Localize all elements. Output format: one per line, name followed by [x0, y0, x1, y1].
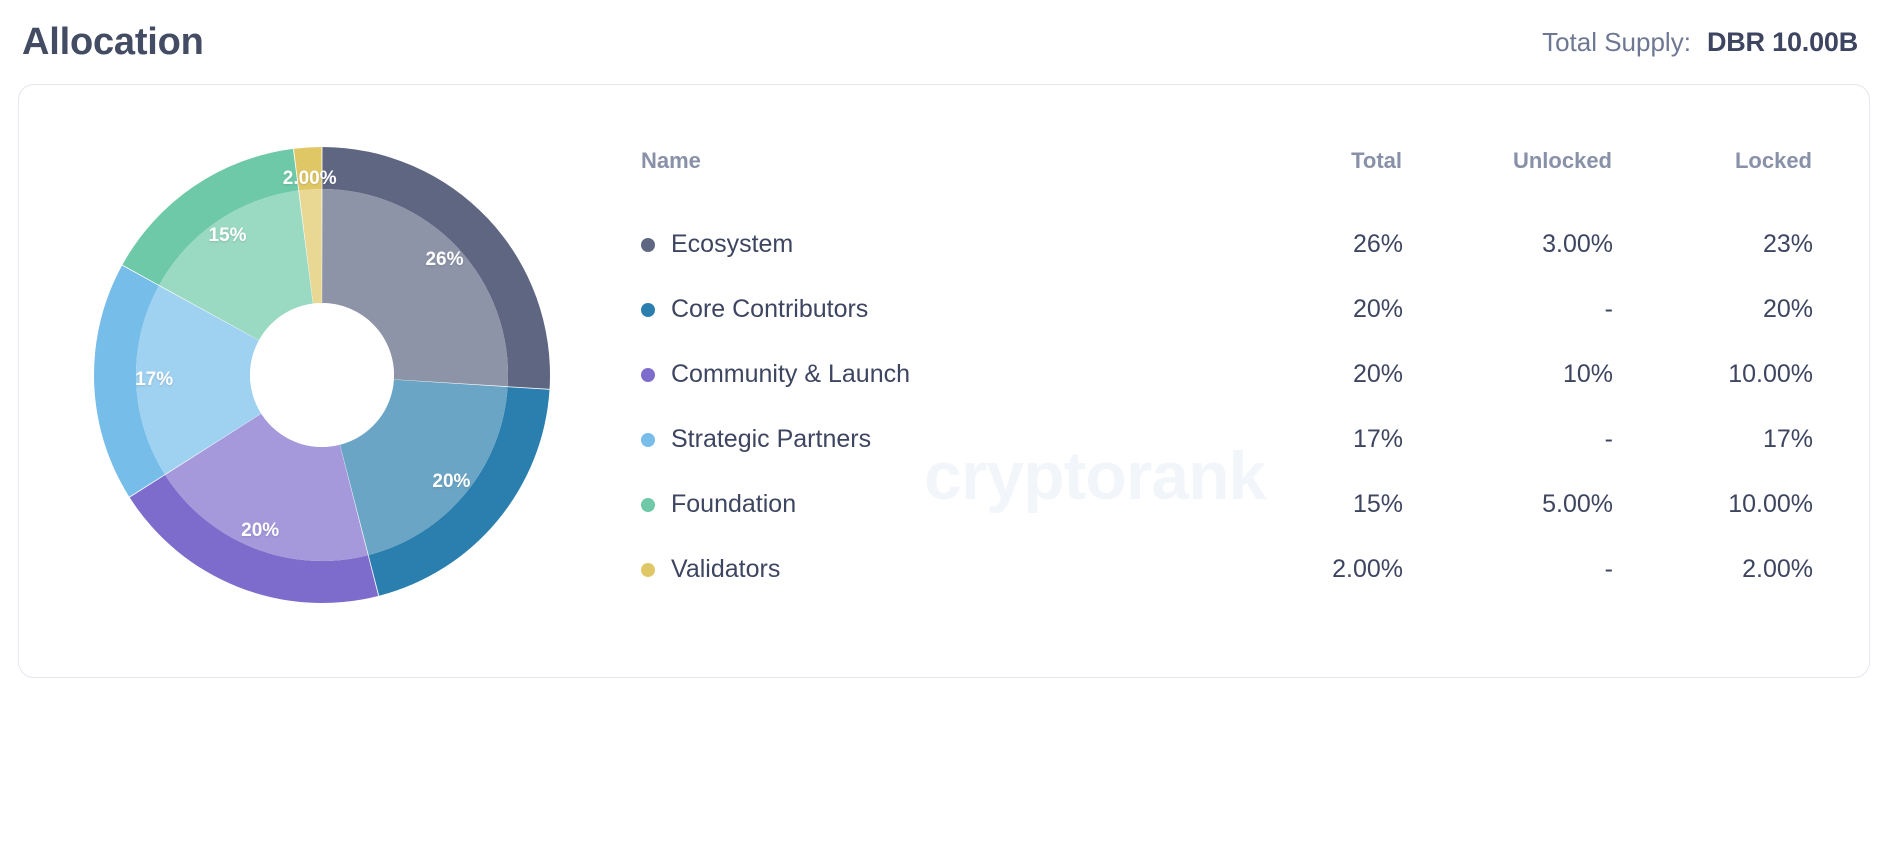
- allocation-unlocked-value: 3.00%: [1403, 212, 1613, 277]
- column-header-name[interactable]: Name: [639, 147, 1253, 212]
- table-row[interactable]: Foundation15%5.00%10.00%: [639, 472, 1813, 537]
- allocation-name-cell: Core Contributors: [639, 277, 1253, 342]
- allocation-name-label: Community & Launch: [671, 360, 910, 389]
- allocation-page: Allocation Total Supply: DBR 10.00B cryp…: [0, 0, 1888, 868]
- allocation-unlocked-value: -: [1403, 537, 1613, 602]
- legend-dot-icon: [641, 238, 655, 252]
- allocation-name-label: Ecosystem: [671, 230, 793, 259]
- allocation-name-cell: Community & Launch: [639, 342, 1253, 407]
- donut-slice-label: 20%: [432, 471, 470, 493]
- allocation-total-value: 26%: [1253, 212, 1403, 277]
- column-header-total[interactable]: Total: [1253, 147, 1403, 212]
- legend-dot-icon: [641, 368, 655, 382]
- allocation-card: cryptorank 26%20%20%17%15%2.00% Name: [18, 84, 1870, 678]
- allocation-locked-value: 10.00%: [1613, 342, 1813, 407]
- allocation-name-cell: Foundation: [639, 472, 1253, 537]
- legend-dot-icon: [641, 563, 655, 577]
- legend-dot-icon: [641, 433, 655, 447]
- allocation-locked-value: 10.00%: [1613, 472, 1813, 537]
- allocation-unlocked-value: -: [1403, 277, 1613, 342]
- allocation-locked-value: 23%: [1613, 212, 1813, 277]
- allocation-total-value: 2.00%: [1253, 537, 1403, 602]
- table-row[interactable]: Community & Launch20%10%10.00%: [639, 342, 1813, 407]
- donut-slice-label: 17%: [135, 369, 173, 391]
- allocation-total-value: 20%: [1253, 277, 1403, 342]
- table-row[interactable]: Strategic Partners17%-17%: [639, 407, 1813, 472]
- legend-dot-icon: [641, 303, 655, 317]
- allocation-name-label: Strategic Partners: [671, 425, 871, 454]
- total-supply-value: DBR 10.00B: [1707, 27, 1858, 58]
- donut-slice-label: 15%: [209, 225, 247, 247]
- total-supply-label: Total Supply:: [1542, 27, 1691, 58]
- table-row[interactable]: Core Contributors20%-20%: [639, 277, 1813, 342]
- allocation-name-cell: Strategic Partners: [639, 407, 1253, 472]
- column-header-locked[interactable]: Locked: [1613, 147, 1813, 212]
- allocation-unlocked-value: 5.00%: [1403, 472, 1613, 537]
- allocation-total-value: 15%: [1253, 472, 1403, 537]
- page-header: Allocation Total Supply: DBR 10.00B: [18, 0, 1870, 84]
- total-supply: Total Supply: DBR 10.00B: [1542, 27, 1866, 58]
- donut-slice-label: 20%: [241, 520, 279, 542]
- donut-chart: 26%20%20%17%15%2.00%: [92, 145, 552, 605]
- allocation-unlocked-value: -: [1403, 407, 1613, 472]
- table-row[interactable]: Ecosystem26%3.00%23%: [639, 212, 1813, 277]
- allocation-unlocked-value: 10%: [1403, 342, 1613, 407]
- allocation-locked-value: 20%: [1613, 277, 1813, 342]
- donut-center-hole: [250, 303, 394, 447]
- allocation-total-value: 17%: [1253, 407, 1403, 472]
- donut-slice-label: 26%: [425, 249, 463, 271]
- allocation-name-cell: Validators: [639, 537, 1253, 602]
- allocation-name-label: Core Contributors: [671, 295, 868, 324]
- allocation-name-label: Foundation: [671, 490, 796, 519]
- table-row[interactable]: Validators2.00%-2.00%: [639, 537, 1813, 602]
- donut-slice-label: 2.00%: [283, 168, 337, 190]
- column-header-unlocked[interactable]: Unlocked: [1403, 147, 1613, 212]
- allocation-table-area: Name Total Unlocked Locked Ecosystem26%3…: [619, 85, 1869, 602]
- allocation-name-label: Validators: [671, 555, 780, 584]
- allocation-locked-value: 17%: [1613, 407, 1813, 472]
- allocation-table: Name Total Unlocked Locked Ecosystem26%3…: [639, 147, 1813, 602]
- allocation-chart: 26%20%20%17%15%2.00%: [19, 85, 619, 678]
- allocation-name-cell: Ecosystem: [639, 212, 1253, 277]
- page-title: Allocation: [22, 21, 204, 64]
- allocation-locked-value: 2.00%: [1613, 537, 1813, 602]
- table-header-row: Name Total Unlocked Locked: [639, 147, 1813, 212]
- legend-dot-icon: [641, 498, 655, 512]
- allocation-total-value: 20%: [1253, 342, 1403, 407]
